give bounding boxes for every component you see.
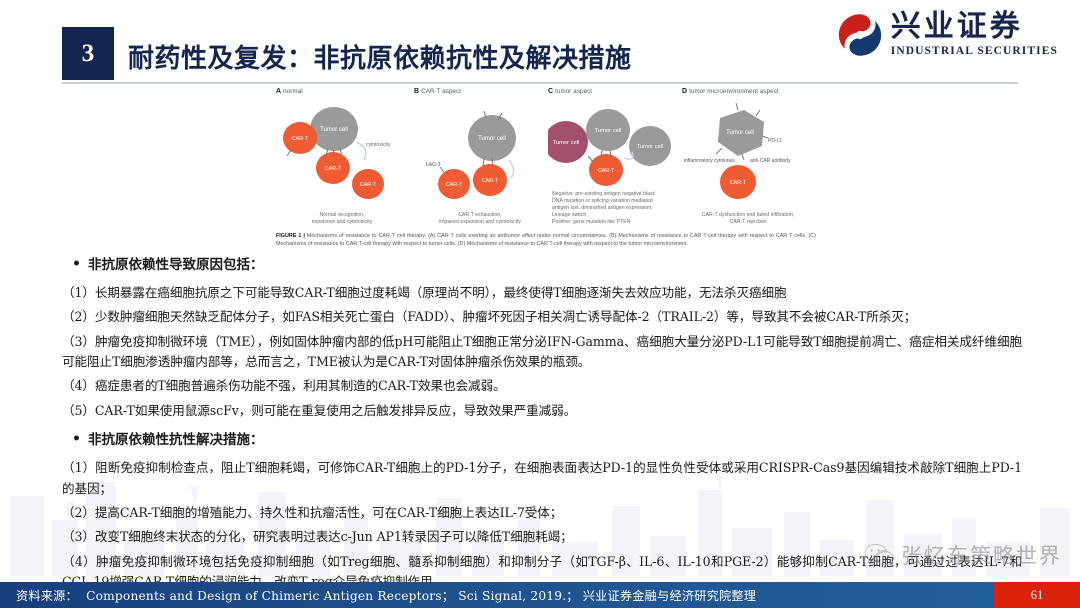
svg-text:CAR-T: CAR-T xyxy=(482,178,499,184)
figure-panel-d-letter: D xyxy=(682,88,687,95)
footer-source: 资料来源： Components and Design of Chimeric … xyxy=(16,586,756,604)
section-1-item-2: （2）少数肿瘤细胞天然缺乏配体分子，如FAS相关死亡蛋白（FADD）、肿瘤坏死因… xyxy=(62,307,1022,327)
svg-text:Tumor cell: Tumor cell xyxy=(726,130,754,136)
svg-text:inflammatory cytokines: inflammatory cytokines xyxy=(684,158,735,164)
figure-caption-prefix: FIGURE 1 | xyxy=(276,233,305,239)
figure-panel-d-label: Dtumor microenvironment aspect xyxy=(682,88,814,96)
section-2-item-3: （3）改变T细胞终末状态的分化，研究表明过表达c-Jun AP1转录因子可以降低… xyxy=(62,527,1022,547)
figure-panel-d: Dtumor microenvironment aspect Tumor cel… xyxy=(682,88,814,228)
figure-panel-b-title: CAR-T aspect xyxy=(421,88,461,95)
footer-source-label: 资料来源： xyxy=(16,589,78,603)
section-1-item-5: （5）CAR-T如果使用鼠源scFv，则可能在重复使用之后触发排异反应，导致效果… xyxy=(62,401,1022,421)
figure-panel-a-letter: A xyxy=(276,88,281,95)
section-1-item-3: （3）肿瘤免疫抑制微环境（TME），例如固体肿瘤内部的低pH可能阻止T细胞正常分… xyxy=(62,332,1022,373)
figure-panel-a: Anormal Tumor cell CAR-T CAR-T CAR-T cyt… xyxy=(276,88,408,228)
svg-text:cytotoxicity: cytotoxicity xyxy=(366,142,391,148)
svg-text:CAR-T: CAR-T xyxy=(360,182,377,188)
figure-panel-b-caption: CAR T exhaustion, impaired expansion and… xyxy=(414,212,546,226)
svg-text:Tumor cell: Tumor cell xyxy=(320,127,348,133)
section-1-item-1: （1）长期暴露在癌细胞抗原之下可能导致CAR-T细胞过度耗竭（原理尚不明），最终… xyxy=(62,283,1022,303)
page-title: 耐药性及复发：非抗原依赖抗性及解决措施 xyxy=(128,38,632,75)
figure-panel-b-label: BCAR-T aspect xyxy=(414,88,546,96)
svg-text:Tumor cell: Tumor cell xyxy=(553,140,580,146)
svg-text:CAR-T: CAR-T xyxy=(446,182,463,188)
figure-panel-a-caption: Normal recognition, expansion and cytoto… xyxy=(276,212,408,226)
section-2-heading: 非抗原依赖性抗性解决措施： xyxy=(72,431,1022,450)
figure-container: Anormal Tumor cell CAR-T CAR-T CAR-T cyt… xyxy=(276,88,816,258)
svg-text:Tumor cell: Tumor cell xyxy=(637,144,664,150)
section-number-badge: 3 xyxy=(62,27,114,80)
figure-caption: FIGURE 1 | Mechanisms of resistance to C… xyxy=(276,232,816,248)
section-1-item-4: （4）癌症患者的T细胞普遍杀伤功能不强，利用其制造的CAR-T效果也会减弱。 xyxy=(62,376,1022,396)
svg-text:PD-L1: PD-L1 xyxy=(768,138,782,144)
figure-panel-c-title: tumor aspect xyxy=(555,88,592,95)
svg-text:LAG-3: LAG-3 xyxy=(426,162,441,168)
header-divider xyxy=(62,82,1018,84)
slide-body: 非抗原依赖性导致原因包括： （1）长期暴露在癌细胞抗原之下可能导致CAR-T细胞… xyxy=(62,256,1022,608)
section-2-item-2: （2）提高CAR-T细胞的增殖能力、持久性和抗瘤活性，可在CAR-T细胞上表达I… xyxy=(62,503,1022,523)
figure-panel-c-letter: C xyxy=(548,88,553,95)
svg-text:CAR-T: CAR-T xyxy=(730,180,747,186)
figure-panel-c-diagram: Tumor cell Tumor cell Tumor cell CAR-T xyxy=(548,96,680,196)
figure-panel-c: Ctumor aspect Tumor cell Tumor cell Tumo… xyxy=(548,88,680,228)
figure-panel-d-title: tumor microenvironment aspect xyxy=(689,88,779,95)
swirl-logo-icon xyxy=(837,12,883,58)
figure-panels: Anormal Tumor cell CAR-T CAR-T CAR-T cyt… xyxy=(276,88,816,228)
figure-panel-a-diagram: Tumor cell CAR-T CAR-T CAR-T cytotoxicit… xyxy=(276,96,408,206)
figure-panel-d-caption: CAR-T dysfunction and failed infiltratio… xyxy=(682,212,814,226)
figure-panel-a-label: Anormal xyxy=(276,88,408,96)
figure-panel-b-letter: B xyxy=(414,88,419,95)
figure-panel-c-caption: Negative: pre-existing antigen negative … xyxy=(548,191,702,226)
footer-source-text: Components and Design of Chimeric Antige… xyxy=(86,589,756,603)
slide-header: 3 耐药性及复发：非抗原依赖抗性及解决措施 兴业证券 INDUSTRIAL SE… xyxy=(0,0,1080,84)
logo-chinese-text: 兴业证券 xyxy=(891,12,1023,42)
section-1-heading: 非抗原依赖性导致原因包括： xyxy=(72,256,1022,275)
svg-text:CAR-T: CAR-T xyxy=(325,166,342,172)
svg-text:Tumor cell: Tumor cell xyxy=(595,128,622,134)
figure-panel-b-diagram: Tumor cell CAR-T CAR-T LAG-3 xyxy=(414,96,546,206)
figure-caption-text: Mechanisms of resistance to CAR T cell t… xyxy=(276,233,816,247)
figure-panel-a-title: normal xyxy=(283,88,303,95)
svg-text:CAR-T: CAR-T xyxy=(292,136,309,142)
svg-text:anti-CAR antibody: anti-CAR antibody xyxy=(750,158,791,164)
svg-text:Tumor cell: Tumor cell xyxy=(478,136,506,142)
brand-logo: 兴业证券 INDUSTRIAL SECURITIES xyxy=(837,12,1058,58)
section-2-item-1: （1）阻断免疫抑制检查点，阻止T细胞耗竭，可修饰CAR-T细胞上的PD-1分子，… xyxy=(62,458,1022,499)
figure-panel-d-diagram: Tumor cell PD-L1 inflammatory cytokines … xyxy=(682,96,814,206)
page-number: 61 xyxy=(994,582,1080,608)
figure-panel-c-label: Ctumor aspect xyxy=(548,88,680,96)
svg-text:CAR-T: CAR-T xyxy=(598,168,615,174)
footer-bar: 资料来源： Components and Design of Chimeric … xyxy=(0,582,1080,608)
figure-panel-b: BCAR-T aspect Tumor cell CAR-T CAR-T LAG… xyxy=(414,88,546,228)
slide-root: 3 耐药性及复发：非抗原依赖抗性及解决措施 兴业证券 INDUSTRIAL SE… xyxy=(0,0,1080,608)
logo-english-text: INDUSTRIAL SECURITIES xyxy=(891,46,1058,58)
